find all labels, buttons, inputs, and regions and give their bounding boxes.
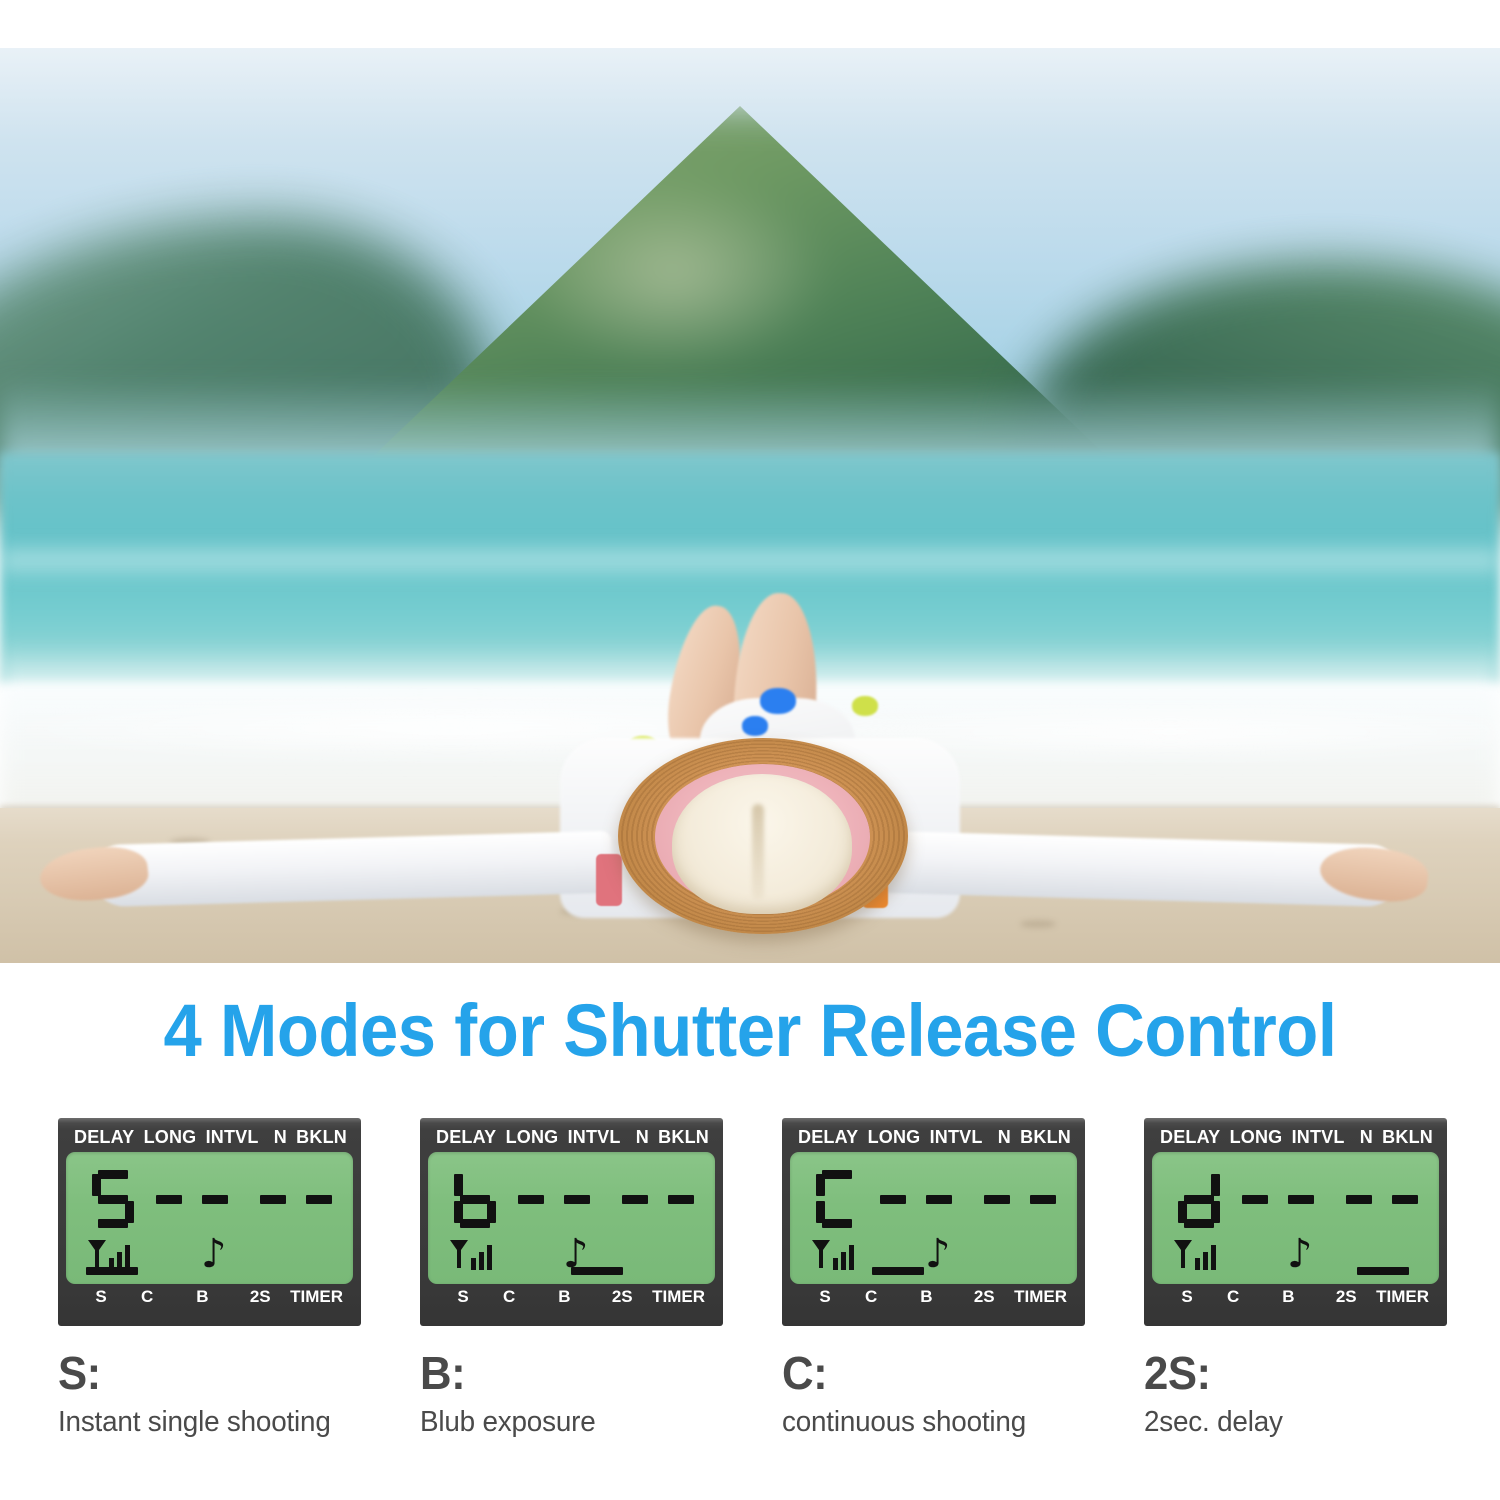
top-label-delay: DELAY [1160,1127,1220,1148]
bottom-label-b: B [536,1287,592,1307]
bottom-label-timer: TIMER [652,1287,705,1307]
caption-2s: 2S: 2sec. delay [1144,1348,1484,1440]
left-sleeve [91,831,613,907]
caption-desc: Blub exposure [420,1404,746,1440]
lcd-dashes [156,1195,332,1204]
bottom-label-2s: 2S [592,1287,652,1307]
top-label-delay: DELAY [436,1127,496,1148]
bottom-label-s: S [444,1287,482,1307]
mode-marker-b [571,1267,623,1275]
top-label-intvl: INTVL [930,1127,983,1148]
mode-marker-c [872,1267,924,1275]
top-label-intvl: INTVL [568,1127,621,1148]
lcd-mode-digit-c [816,1170,858,1228]
lcd-digit-row [1178,1168,1428,1230]
caption-key: B: [420,1348,743,1398]
caption-group: S: Instant single shooting B: Blub expos… [0,1348,1500,1488]
lcd-digit-row [816,1168,1066,1230]
caption-key: S: [58,1348,381,1398]
caption-desc: Instant single shooting [58,1404,384,1440]
bottom-label-2s: 2S [954,1287,1014,1307]
signal-bars-icon [1172,1238,1218,1272]
beach-photo [0,48,1500,963]
lcd-screen: ♪ [428,1152,715,1284]
mode-marker-2s [1357,1267,1409,1275]
lcd-mode-digit-b [454,1170,496,1228]
mode-marker-s [86,1267,138,1275]
caption-desc: continuous shooting [782,1404,1108,1440]
top-label-intvl: INTVL [1292,1127,1345,1148]
bottom-label-s: S [806,1287,844,1307]
bottom-label-b: B [898,1287,954,1307]
lcd-dashes [1242,1195,1418,1204]
lcd-bottom-labels: S C B 2S TIMER [790,1284,1077,1320]
lcd-dashes [518,1195,694,1204]
caption-key: 2S: [1144,1348,1467,1398]
caption-desc: 2sec. delay [1144,1404,1470,1440]
bottom-label-c: C [120,1287,174,1307]
bottom-label-timer: TIMER [1014,1287,1067,1307]
bottom-label-b: B [174,1287,230,1307]
lcd-top-labels: DELAY LONG INTVL N BKLN [66,1122,353,1152]
top-label-bkln: BKLN [658,1127,709,1148]
lcd-screen: ♪ [790,1152,1077,1284]
lcd-dashes [880,1195,1056,1204]
top-label-bkln: BKLN [1382,1127,1433,1148]
top-label-n: N [274,1127,287,1148]
top-label-n: N [1360,1127,1373,1148]
caption-c: C: continuous shooting [782,1348,1122,1440]
lcd-panel-group: DELAY LONG INTVL N BKLN [0,1118,1500,1328]
music-note-icon: ♪ [201,1234,227,1274]
lcd-top-labels: DELAY LONG INTVL N BKLN [1152,1122,1439,1152]
lcd-bottom-labels: S C B 2S TIMER [428,1284,715,1320]
top-label-long: LONG [506,1127,559,1148]
lcd-panel-b: DELAY LONG INTVL N BKLN [420,1118,723,1326]
top-label-bkln: BKLN [1020,1127,1071,1148]
bottom-label-c: C [844,1287,898,1307]
bottom-label-timer: TIMER [290,1287,343,1307]
top-label-delay: DELAY [74,1127,134,1148]
caption-key: C: [782,1348,1105,1398]
lcd-top-labels: DELAY LONG INTVL N BKLN [790,1122,1077,1152]
top-label-n: N [636,1127,649,1148]
top-label-long: LONG [1230,1127,1283,1148]
lcd-mode-digit-s [92,1170,134,1228]
person-on-beach [0,48,1500,963]
lcd-icon-row: ♪ [810,1236,1070,1280]
lcd-screen: ♪ [66,1152,353,1284]
bottom-label-b: B [1260,1287,1316,1307]
caption-s: S: Instant single shooting [58,1348,398,1440]
page-title: 4 Modes for Shutter Release Control [53,988,1448,1073]
lcd-bottom-labels: S C B 2S TIMER [66,1284,353,1320]
top-label-long: LONG [868,1127,921,1148]
top-label-intvl: INTVL [206,1127,259,1148]
bottom-label-timer: TIMER [1376,1287,1429,1307]
top-label-n: N [998,1127,1011,1148]
lcd-digit-row [92,1168,342,1230]
bottom-label-2s: 2S [1316,1287,1376,1307]
music-note-icon: ♪ [925,1234,951,1274]
caption-b: B: Blub exposure [420,1348,760,1440]
clothing-tag-left [596,854,622,906]
lcd-bottom-labels: S C B 2S TIMER [1152,1284,1439,1320]
bottom-label-s: S [1168,1287,1206,1307]
lcd-top-labels: DELAY LONG INTVL N BKLN [428,1122,715,1152]
bottom-label-s: S [82,1287,120,1307]
top-label-long: LONG [144,1127,197,1148]
lcd-screen: ♪ [1152,1152,1439,1284]
top-label-delay: DELAY [798,1127,858,1148]
bottom-label-2s: 2S [230,1287,290,1307]
straw-hat-crease [752,804,764,899]
lcd-mode-digit-2s [1178,1170,1220,1228]
top-label-bkln: BKLN [296,1127,347,1148]
lcd-panel-2s: DELAY LONG INTVL N BKLN [1144,1118,1447,1326]
bottom-label-c: C [482,1287,536,1307]
lcd-digit-row [454,1168,704,1230]
signal-bars-icon [448,1238,494,1272]
music-note-icon: ♪ [1287,1234,1313,1274]
lcd-panel-c: DELAY LONG INTVL N BKLN [782,1118,1085,1326]
lcd-panel-s: DELAY LONG INTVL N BKLN [58,1118,361,1326]
bottom-label-c: C [1206,1287,1260,1307]
signal-bars-icon [810,1238,856,1272]
